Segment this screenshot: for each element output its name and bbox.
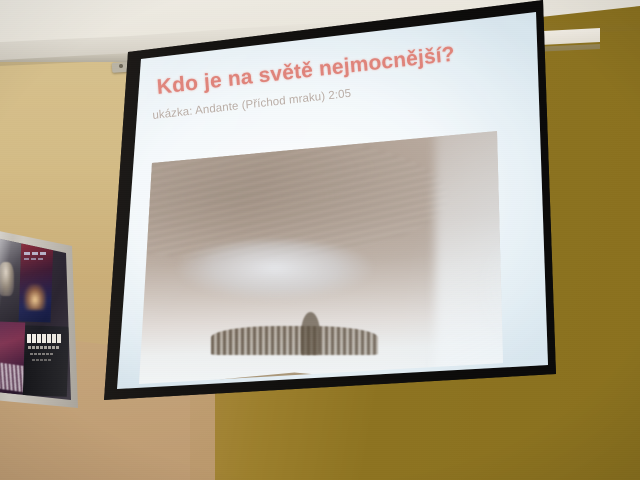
poster-koncert-title [27, 334, 62, 343]
presentation-slide: Kdo je na světě nejmocnější? ukázka: And… [0, 0, 640, 480]
photo-foreground-field [0, 394, 640, 480]
room-scene: Kdo je na světě nejmocnější? ukázka: And… [0, 0, 640, 480]
poster-portrait-figure [0, 262, 14, 296]
poster-candle-text-line-1 [24, 252, 48, 255]
poster-candle-text-line-2 [24, 258, 44, 260]
poster-koncert-subtitle-line-2 [30, 353, 54, 355]
poster-koncert-subtitle-line-3 [32, 359, 51, 361]
poster-candle-flame [24, 284, 46, 310]
poster-koncert-subtitle-line-1 [28, 346, 59, 349]
